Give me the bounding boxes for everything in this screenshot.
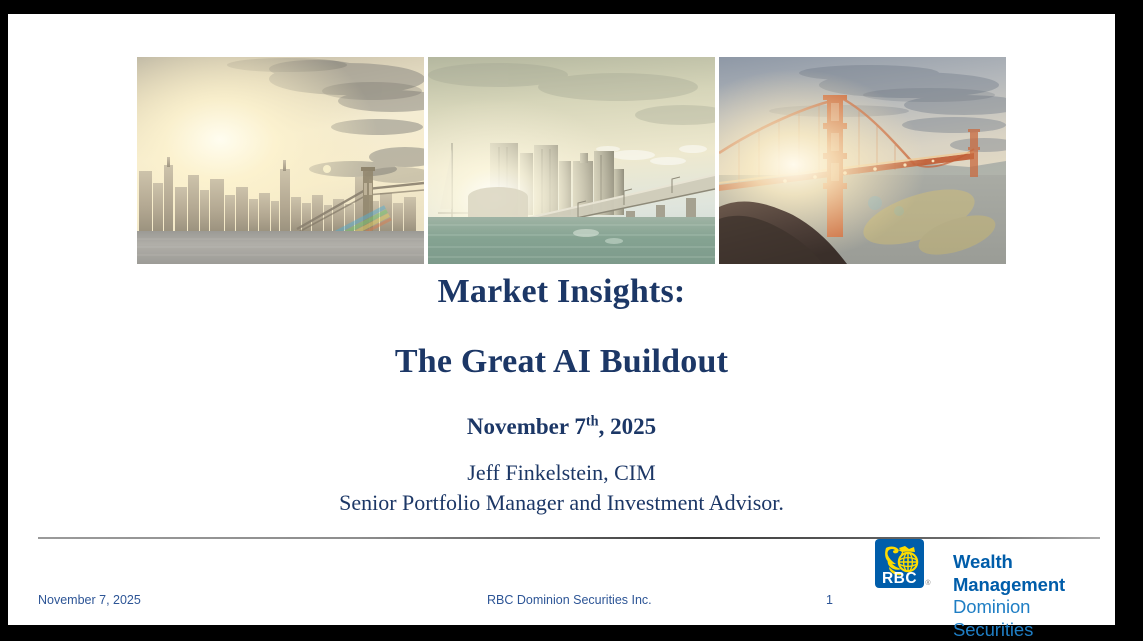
svg-text:®: ® bbox=[925, 579, 931, 587]
rbc-wordmark-line2: Dominion Securities bbox=[953, 596, 1110, 641]
date-ordinal-suffix: th bbox=[586, 413, 599, 429]
rbc-logo-lockup: RBC ® Wealth Management Dominion Securit… bbox=[875, 539, 1110, 599]
presenter-name: Jeff Finkelstein, CIM bbox=[8, 460, 1115, 486]
image-new-york-skyline-sunset bbox=[137, 57, 424, 264]
slide-canvas: Market Insights: The Great AI Buildout N… bbox=[8, 14, 1115, 625]
rbc-shield-icon: RBC ® bbox=[875, 539, 931, 595]
header-image-band bbox=[137, 57, 1006, 264]
image-golden-gate-bridge-sunset bbox=[719, 57, 1006, 264]
slide-date: November 7th, 2025 bbox=[8, 414, 1115, 440]
svg-text:RBC: RBC bbox=[882, 570, 917, 587]
date-year: , 2025 bbox=[599, 414, 657, 439]
date-prefix: November 7 bbox=[467, 414, 586, 439]
image-miami-causeway-bridge bbox=[428, 57, 715, 264]
footer-page-number: 1 bbox=[826, 593, 833, 607]
rbc-wordmark: Wealth Management Dominion Securities bbox=[953, 551, 1110, 641]
slide-title-sub: The Great AI Buildout bbox=[8, 343, 1115, 381]
footer-date: November 7, 2025 bbox=[38, 593, 141, 607]
rbc-wordmark-line1: Wealth Management bbox=[953, 551, 1110, 596]
presenter-title: Senior Portfolio Manager and Investment … bbox=[8, 490, 1115, 516]
slide-title-main: Market Insights: bbox=[8, 273, 1115, 311]
footer-entity-name: RBC Dominion Securities Inc. bbox=[487, 593, 652, 607]
